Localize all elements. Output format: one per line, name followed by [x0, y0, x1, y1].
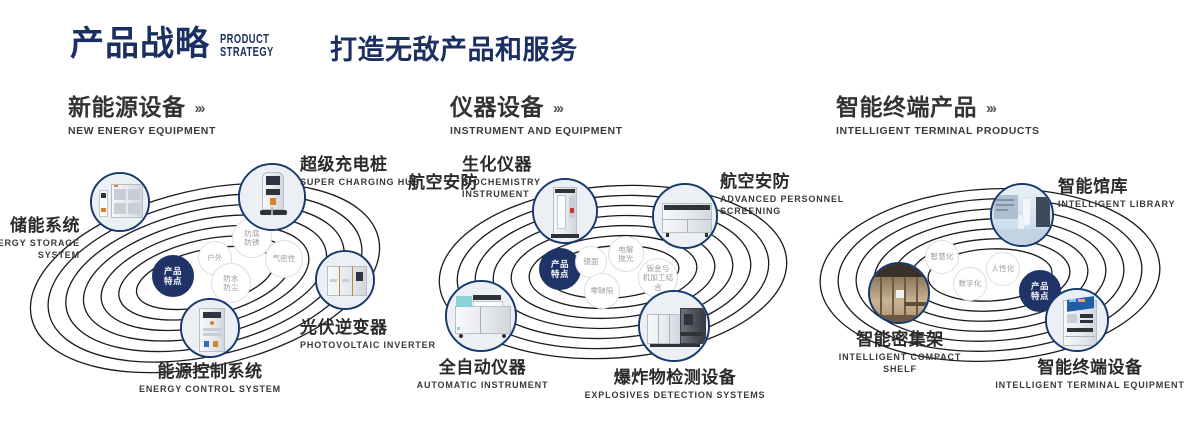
feature-bubble: 气密性 [265, 240, 303, 278]
node-circle-photovoltaic-inverter[interactable] [315, 250, 375, 310]
automatic-instrument-icon [455, 306, 511, 334]
node-circle-intelligent-compact-shelf[interactable] [868, 262, 930, 324]
chevron-right-triple-icon: ››› [195, 101, 204, 116]
node-label-biochemistry-instrument: 生化仪器 BIOCHEMISTRY INSTRUMENT [462, 155, 602, 200]
section-title-cn: 新能源设备 [68, 96, 186, 119]
section-header-intelligent-terminal: 智能终端产品 ››› INTELLIGENT TERMINAL PRODUCTS [836, 96, 1040, 137]
section-title-cn: 仪器设备 [450, 96, 544, 119]
node-label-automatic-instrument: 全自动仪器 AUTOMATIC INSTRUMENT [395, 358, 570, 392]
section-title-en: INTELLIGENT TERMINAL PRODUCTS [836, 126, 1040, 137]
feature-bubble: 人性化 [986, 252, 1020, 286]
section-header-new-energy: 新能源设备 ››› NEW ENERGY EQUIPMENT [68, 96, 216, 137]
section-title-en: NEW ENERGY EQUIPMENT [68, 126, 216, 137]
feature-bubble: 防水 防尘 [211, 263, 251, 303]
node-circle-advanced-personnel-screening[interactable] [652, 183, 718, 249]
page-title: 产品战略 PRODUCT STRATEGY [70, 27, 295, 61]
node-circle-intelligent-terminal-equipment[interactable] [1045, 288, 1109, 352]
node-label-intelligent-compact-shelf: 智能密集架 INTELLIGENT COMPACT SHELF [810, 330, 990, 375]
cluster-intelligent-terminal: 智慧化 数字化 人性化 产品 特点 智能馆库 INTELLIGENT LIBRA… [790, 150, 1200, 400]
node-circle-explosives-detection[interactable] [638, 290, 710, 362]
page-title-cn: 产品战略 [70, 27, 210, 61]
node-label-explosives-detection: 爆炸物检测设备 EXPLOSIVES DETECTION SYSTEMS [575, 368, 775, 402]
page-subtitle: 打造无敌产品和服务 [330, 37, 578, 64]
feature-bubble-primary: 产品 特点 [539, 248, 581, 290]
chevron-right-triple-icon: ››› [553, 101, 562, 116]
section-title-en: INSTRUMENT AND EQUIPMENT [450, 126, 623, 137]
feature-bubble: 数字化 [953, 267, 987, 301]
feature-bubble: 零缺陷 [584, 273, 620, 309]
node-circle-energy-control-system[interactable] [180, 298, 240, 358]
node-circle-intelligent-library[interactable] [990, 183, 1054, 247]
node-label-energy-storage: 储能系统 ENERGY STORAGE SYSTEM [0, 216, 80, 261]
node-label-energy-control-system: 能源控制系统 ENERGY CONTROL SYSTEM [110, 362, 310, 396]
cluster-new-energy: 产品 特点 户外 防腐 防锈 防水 防尘 气密性 储能系统 ENERGY STO… [0, 150, 400, 400]
explosives-detector-icon [647, 314, 681, 344]
section-title-cn: 智能终端产品 [836, 96, 977, 119]
node-label-intelligent-library: 智能馆库 INTELLIGENT LIBRARY [1058, 177, 1198, 211]
product-strategy-infographic: 产品战略 PRODUCT STRATEGY 打造无敌产品和服务 新能源设备 ››… [0, 0, 1200, 422]
chevron-right-triple-icon: ››› [986, 101, 995, 116]
page-title-en: PRODUCT STRATEGY [220, 32, 274, 62]
feature-bubble: 智慧化 [925, 240, 959, 274]
feature-bubble-primary: 产品 特点 [152, 255, 194, 297]
node-label-intelligent-terminal-equipment: 智能终端设备 INTELLIGENT TERMINAL EQUIPMENT [980, 358, 1200, 392]
node-circle-super-charging-hub[interactable] [238, 163, 306, 231]
section-header-instrument: 仪器设备 ››› INSTRUMENT AND EQUIPMENT [450, 96, 623, 137]
node-circle-automatic-instrument[interactable] [445, 280, 517, 352]
battery-cabinet-icon [99, 190, 108, 217]
cluster-instrument: 产品 特点 镜面 电解 抛光 零缺陷 钣金与 机加工结合 航空安防 生化仪器 B… [400, 150, 820, 400]
node-circle-energy-storage[interactable] [90, 172, 150, 232]
